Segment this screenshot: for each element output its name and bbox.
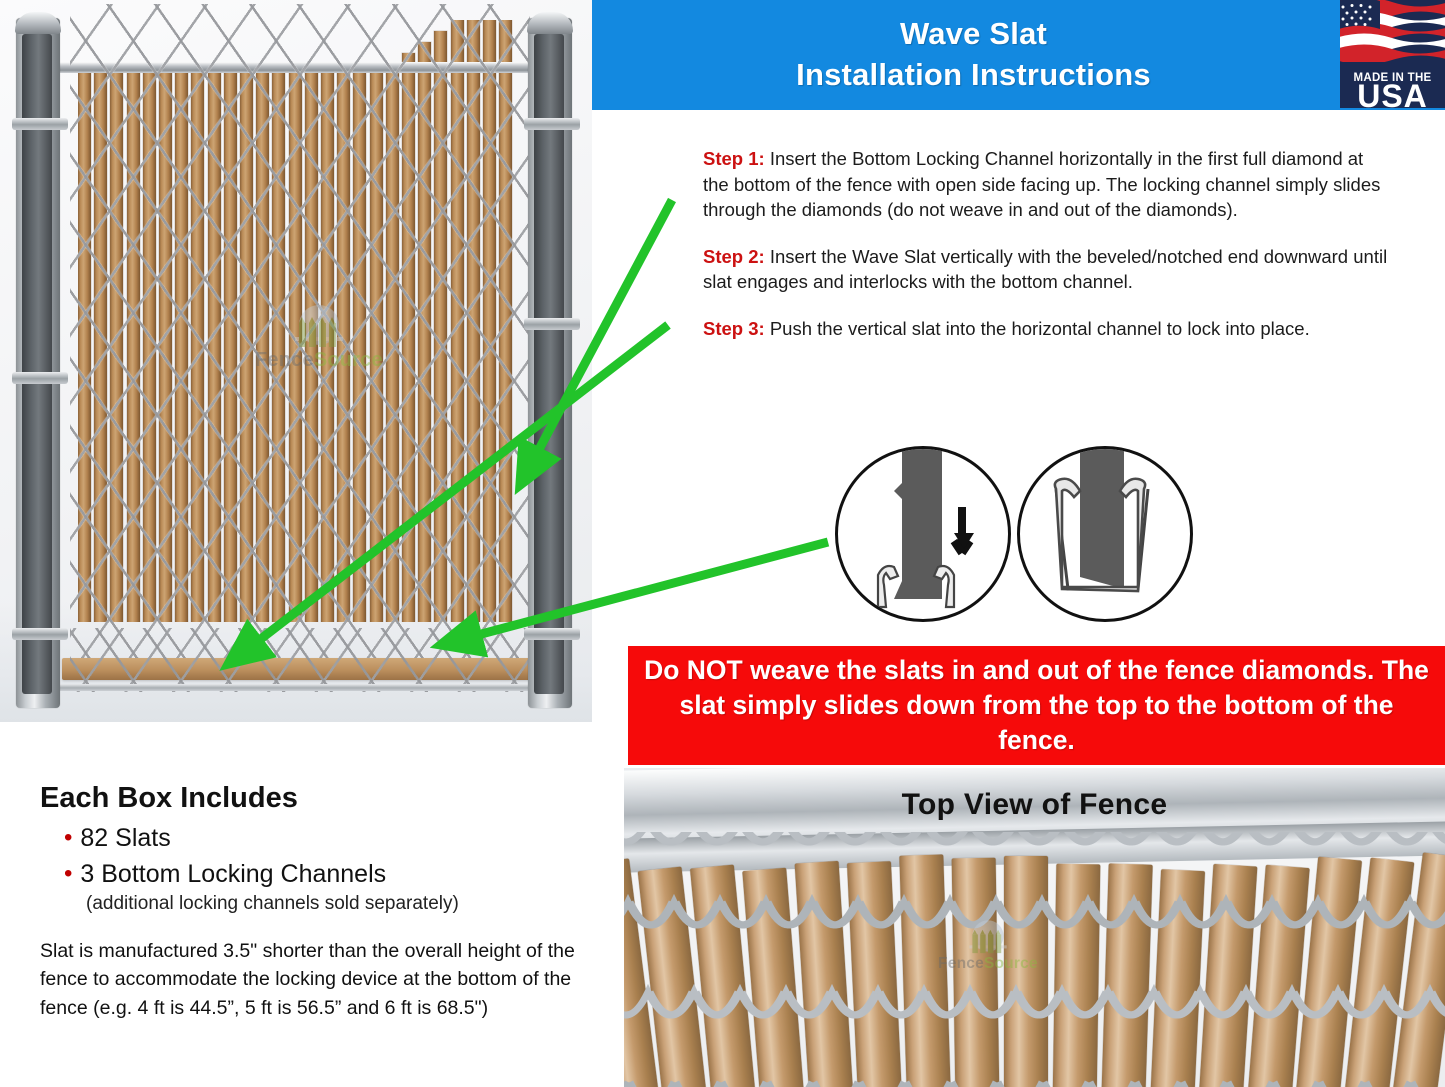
slat-height-paragraph: Slat is manufactured 3.5" shorter than t… [40,937,600,1022]
post-cap-right [527,12,573,34]
wave-slat [386,64,399,622]
wave-slat-top-view [1195,864,1258,1087]
post-cap-left [15,12,61,34]
page-header: Wave Slat Installation Instructions MADE… [592,0,1445,110]
includes-item-label: 3 Bottom Locking Channels [80,857,386,893]
wave-slat [78,64,91,622]
includes-list-item: • 82 Slats [64,821,600,857]
wave-slat [159,64,172,622]
fence-post-right-inner [534,34,564,694]
detail-circle-insert [835,446,1011,622]
post-band [524,318,580,330]
made-in-usa-badge: MADE IN THE USA [1340,0,1445,108]
each-box-includes-section: Each Box Includes • 82 Slats • 3 Bottom … [40,782,600,1022]
step-text: Push the vertical slat into the horizont… [765,318,1310,339]
post-band [12,628,68,640]
wave-slat [240,64,253,622]
warning-text: Do NOT weave the slats in and out of the… [628,653,1445,759]
slat-locking-detail [835,446,1185,616]
post-band [12,372,68,384]
detail-circle-locked [1017,446,1193,622]
step-item: Step 2: Insert the Wave Slat vertically … [703,244,1393,295]
bullet-icon: • [64,821,72,857]
american-flag-icon [1340,0,1445,62]
post-band [524,628,580,640]
wave-slat [353,64,366,622]
wave-slat [451,20,464,622]
fence-installation-photo: FenceSource [0,0,592,722]
fence-top-rail [58,62,540,73]
wave-slat [289,64,302,622]
post-band [12,118,68,130]
includes-note: (additional locking channels sold separa… [86,893,600,915]
wave-slat [191,64,204,622]
wave-slat [94,64,107,622]
bottom-locking-channel [62,658,540,680]
installation-steps: Step 1: Insert the Bottom Locking Channe… [703,146,1393,362]
wave-slat [499,20,512,622]
wave-slat-top-view [952,858,1001,1087]
fence-post-left-inner [22,34,52,694]
includes-title: Each Box Includes [40,782,600,815]
do-not-weave-warning: Do NOT weave the slats in and out of the… [628,646,1445,765]
page-title-line1: Wave Slat [592,14,1355,55]
wave-slat [143,64,156,622]
bullet-icon: • [64,857,72,893]
wave-slat [224,64,237,622]
wave-slat [418,42,431,622]
page-title: Wave Slat Installation Instructions [592,14,1445,96]
wave-slat [434,31,447,622]
wave-slat [321,64,334,622]
wave-slat [402,53,415,622]
wave-slat [110,64,123,622]
fence-bottom-rail [56,684,542,691]
wave-slat [467,20,480,622]
step-text: Insert the Wave Slat vertically with the… [703,246,1387,293]
wave-slat [175,64,188,622]
includes-item-label: 82 Slats [80,821,170,857]
wave-slat [256,64,269,622]
step-item: Step 1: Insert the Bottom Locking Channe… [703,146,1393,223]
top-view-caption: Top View of Fence [624,788,1445,822]
step-text: Insert the Bottom Locking Channel horizo… [703,148,1380,220]
step-label: Step 2: [703,246,765,267]
wave-slat [305,64,318,622]
wave-slat [483,20,496,622]
top-view-photo: Top View of Fence FenceSource [624,768,1445,1087]
includes-list-item: • 3 Bottom Locking Channels [64,857,600,893]
wave-slat [370,64,383,622]
wave-slat-top-view [1147,869,1205,1087]
badge-label-big: USA [1340,80,1445,108]
wave-slat-top-view [1052,864,1101,1087]
step-label: Step 1: [703,148,765,169]
step-item: Step 3: Push the vertical slat into the … [703,316,1393,342]
wave-slat-top-view [1004,856,1048,1087]
wave-slat [272,64,285,622]
post-band [524,118,580,130]
wave-slat-top-view [847,861,905,1087]
wave-slat [127,64,140,622]
wave-slat-top-view [899,854,952,1087]
wave-slat-top-view [1099,863,1152,1087]
page-title-line2: Installation Instructions [592,55,1355,96]
wave-slat [208,64,221,622]
vertical-slat-field [78,20,518,622]
wave-slat [337,64,350,622]
step-label: Step 3: [703,318,765,339]
